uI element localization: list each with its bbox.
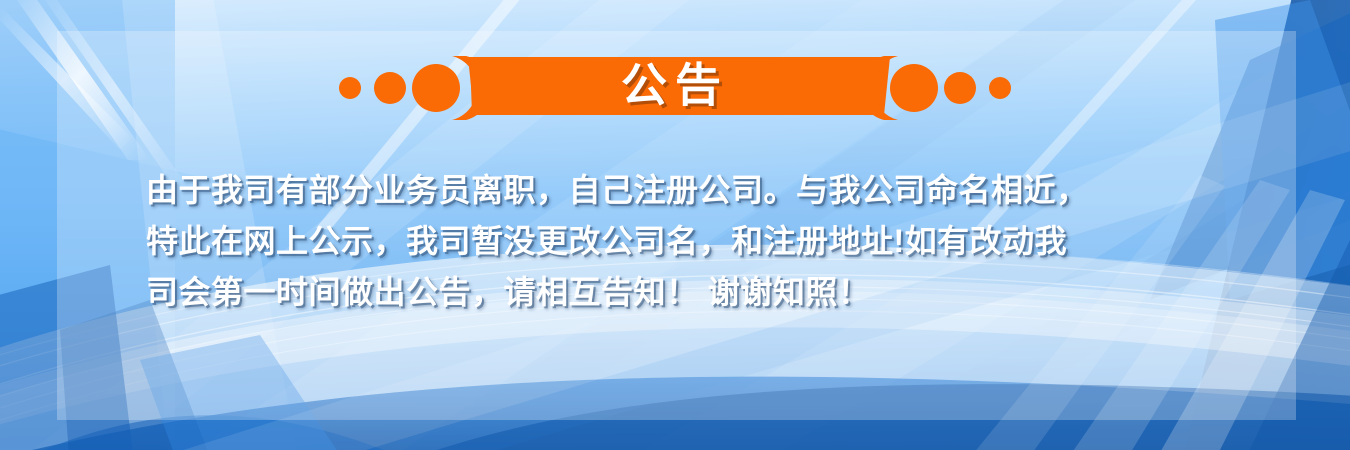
announcement-body: 由于我司有部分业务员离职，自己注册公司。与我公司命名相近， 特此在网上公示，我司… bbox=[146, 165, 1236, 318]
announcement-banner-image: 公告 由于我司有部分业务员离职，自己注册公司。与我公司命名相近， 特此在网上公示… bbox=[0, 0, 1350, 450]
announcement-line-2: 特此在网上公示，我司暂没更改公司名，和注册地址!如有改动我 bbox=[146, 216, 1236, 267]
announcement-line-1: 由于我司有部分业务员离职，自己注册公司。与我公司命名相近， bbox=[146, 165, 1236, 216]
page-title: 公告 bbox=[0, 52, 1350, 118]
announcement-line-3: 司会第一时间做出公告，请相互告知！ 谢谢知照！ bbox=[146, 267, 1236, 318]
